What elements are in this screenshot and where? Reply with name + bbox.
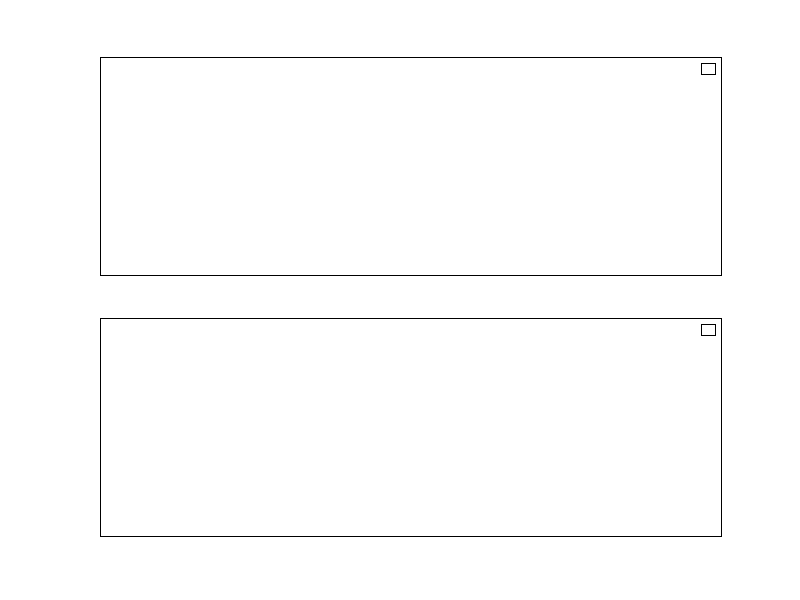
spectrum-figure — [0, 0, 800, 600]
top-spectrum-axes — [100, 57, 722, 276]
bottom-spectrum-axes — [100, 318, 722, 537]
bottom-legend[interactable] — [701, 324, 716, 336]
top-plot-lines — [101, 58, 721, 275]
bottom-plot-area — [101, 319, 721, 536]
top-plot-area — [101, 58, 721, 275]
top-legend[interactable] — [701, 63, 716, 75]
bottom-plot-lines — [101, 319, 721, 536]
